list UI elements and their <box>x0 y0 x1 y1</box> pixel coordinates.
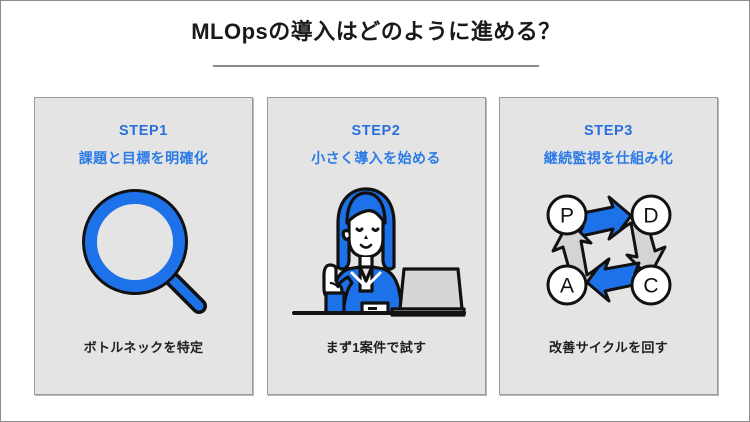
step-card-3-caption: 改善サイクルを回す <box>549 337 668 356</box>
step-card-2-caption: まず1案件で試す <box>326 337 427 356</box>
step-card-2-step-label: STEP2 <box>352 123 401 139</box>
step-card-1-subtitle: 課題と目標を明確化 <box>79 148 209 168</box>
step-card-3-step-label: STEP3 <box>584 123 633 139</box>
steps-row: STEP1 課題と目標を明確化 ボトルネックを特定 STEP2 <box>34 97 718 395</box>
step-card-2[interactable]: STEP2 小さく導入を始める <box>267 97 486 395</box>
slide-canvas: MLOpsの導入はどのように進める？ STEP1 課題と目標を明確化 <box>0 0 750 422</box>
pdca-cycle-icon: P D C A <box>539 185 679 317</box>
step-card-3[interactable]: STEP3 継続監視を仕組み化 <box>499 97 718 395</box>
step-card-3-subtitle: 継続監視を仕組み化 <box>544 148 674 168</box>
pdca-node-label-d: D <box>643 204 658 227</box>
step-card-2-artwork <box>268 168 485 337</box>
pdca-node-label-p: P <box>559 204 573 227</box>
person-at-laptop-icon <box>286 181 466 321</box>
step-card-3-artwork: P D C A <box>500 168 717 337</box>
step-card-1[interactable]: STEP1 課題と目標を明確化 ボトルネックを特定 <box>34 97 253 395</box>
magnifying-glass-icon <box>80 187 208 315</box>
pdca-node-label-a: A <box>559 274 573 297</box>
step-card-1-caption: ボトルネックを特定 <box>84 337 204 356</box>
page-title: MLOpsの導入はどのように進める？ <box>1 18 750 46</box>
step-card-1-artwork <box>35 168 252 337</box>
pdca-node-label-c: C <box>643 274 658 297</box>
title-block: MLOpsの導入はどのように進める？ <box>1 18 750 46</box>
step-card-1-step-label: STEP1 <box>119 123 168 139</box>
step-card-2-subtitle: 小さく導入を始める <box>311 148 441 168</box>
title-divider <box>213 65 539 67</box>
